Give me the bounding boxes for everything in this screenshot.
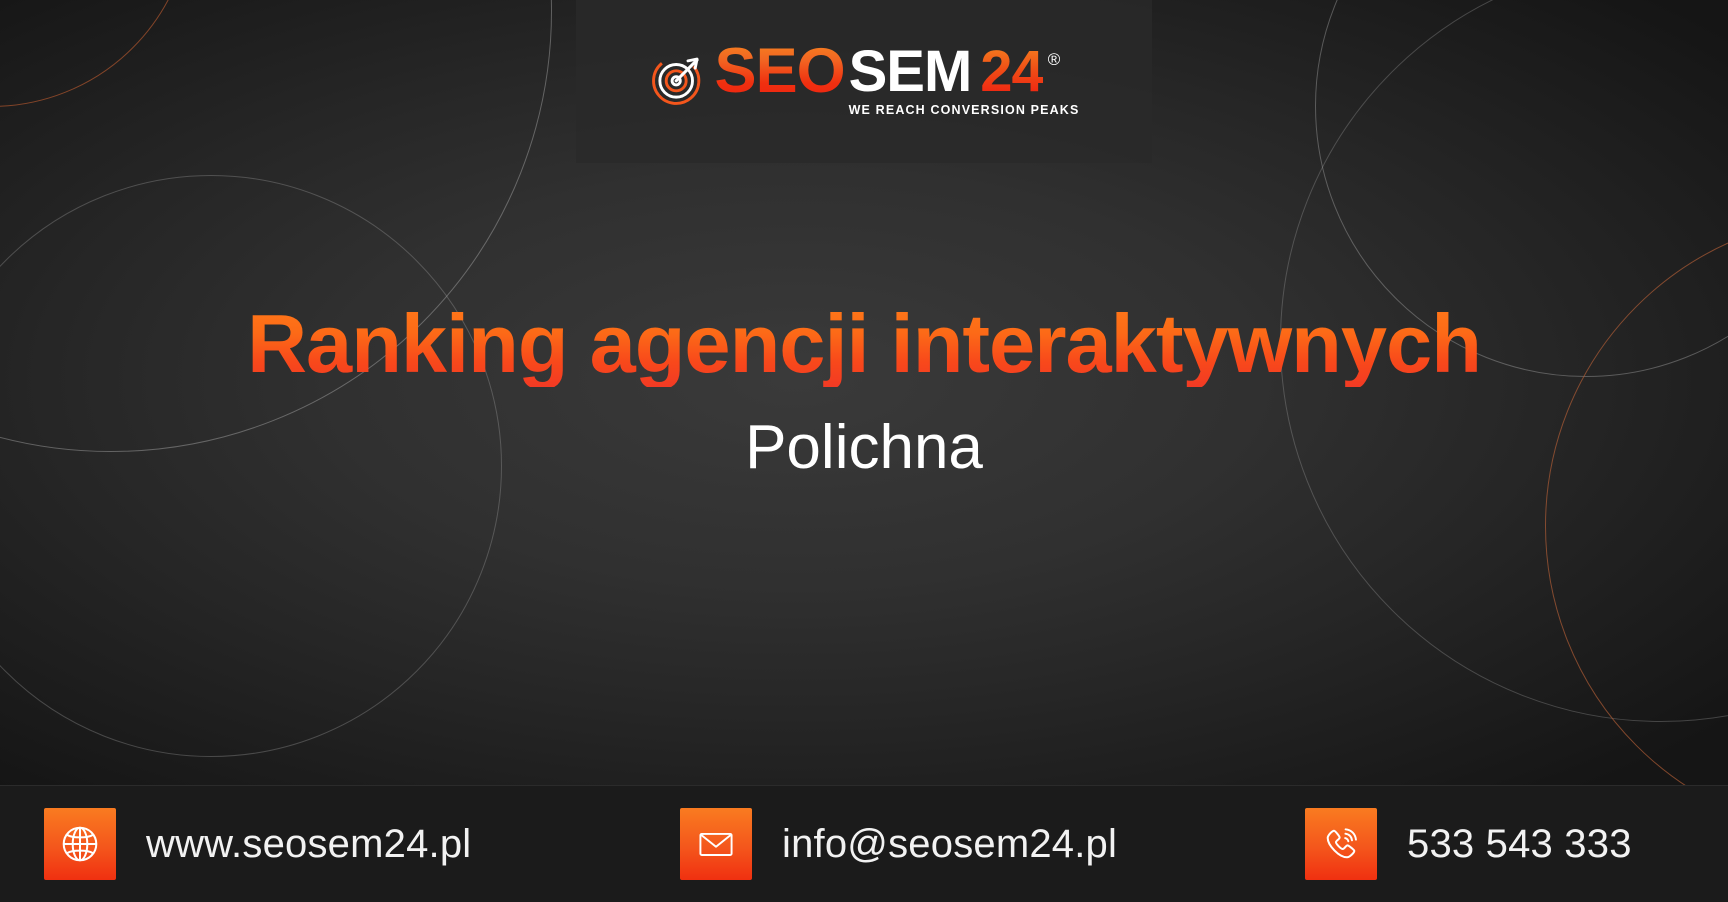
target-arrow-icon [649,50,707,108]
logo-right-block: SEM 24 ® WE REACH CONVERSION PEAKS [849,42,1080,116]
envelope-icon [680,808,752,880]
logo-seo-text: SEO [715,42,845,102]
headings-block: Ranking agencji interaktywnych Polichna [0,300,1728,480]
registered-mark-icon: ® [1048,50,1061,70]
logo-tagline: WE REACH CONVERSION PEAKS [849,103,1080,117]
website-label: www.seosem24.pl [146,822,471,867]
page-title: Ranking agencji interaktywnych [0,300,1728,387]
logo-sem-row: SEM 24 ® [849,44,1080,99]
deco-ring-orange-left [0,0,192,107]
phone-icon [1305,808,1377,880]
logo-number-text: 24 [980,44,1043,99]
email-label: info@seosem24.pl [782,822,1117,867]
phone-label: 533 543 333 [1407,822,1632,867]
globe-icon [44,808,116,880]
footer-item-website[interactable]: www.seosem24.pl [44,808,471,880]
page-subtitle: Polichna [0,415,1728,480]
footer-item-email[interactable]: info@seosem24.pl [680,808,1117,880]
logo-wordmark: SEO SEM 24 ® WE REACH CONVERSION PEAKS [715,42,1080,116]
slide-canvas: SEO SEM 24 ® WE REACH CONVERSION PEAKS R… [0,0,1728,902]
contact-footer: www.seosem24.pl info@seosem24.pl 533 [0,785,1728,902]
logo-sem-text: SEM [849,44,972,99]
logo-banner: SEO SEM 24 ® WE REACH CONVERSION PEAKS [576,0,1152,163]
footer-item-phone[interactable]: 533 543 333 [1305,808,1632,880]
logo-lockup: SEO SEM 24 ® WE REACH CONVERSION PEAKS [649,42,1080,116]
